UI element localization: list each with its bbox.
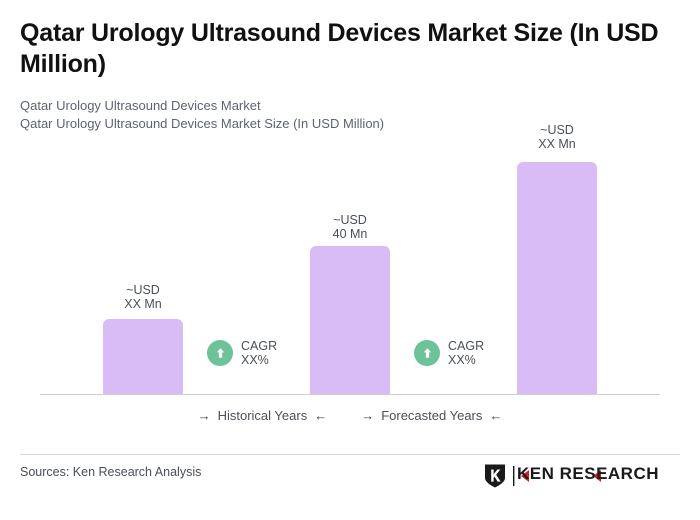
bar-value-amount-1: XX Mn <box>88 297 198 311</box>
arrow-right-icon: → <box>361 408 374 423</box>
legend-item-forecasted: → Forecasted Years ← <box>361 408 502 423</box>
bar-value-unit-3: ~USD <box>502 123 612 137</box>
bar-value-label-3: ~USD XX Mn <box>502 123 612 151</box>
x-axis-line <box>40 394 660 395</box>
page-title: Qatar Urology Ultrasound Devices Market … <box>20 18 660 80</box>
bar-value-unit-2: ~USD <box>295 213 405 227</box>
brand-name: KEN RESEARCH <box>517 465 659 482</box>
bar-value-amount-2: 40 Mn <box>295 227 405 241</box>
bar-value-label-1: ~USD XX Mn <box>88 283 198 311</box>
arrow-up-icon <box>414 340 440 366</box>
bar-base-year[interactable] <box>310 246 390 394</box>
cagr-label-1: CAGR <box>241 339 277 353</box>
legend-label-historical: Historical Years <box>218 408 308 423</box>
bar-value-label-2: ~USD 40 Mn <box>295 213 405 241</box>
arrow-left-icon: ← <box>314 408 327 423</box>
period-legend: → Historical Years ← → Forecasted Years … <box>0 408 700 423</box>
arrow-right-icon: → <box>198 408 211 423</box>
legend-item-historical: → Historical Years ← <box>198 408 328 423</box>
chart-plot-area: ~USD XX Mn ~USD 40 Mn ~USD XX Mn CAGR XX… <box>0 110 700 395</box>
cagr-annotation-2: CAGR XX% <box>414 339 484 367</box>
footer-divider <box>20 454 680 455</box>
arrow-up-icon <box>207 340 233 366</box>
cagr-text-1: CAGR XX% <box>241 339 277 367</box>
cagr-annotation-1: CAGR XX% <box>207 339 277 367</box>
arrow-left-icon: ← <box>489 408 502 423</box>
bar-historical[interactable] <box>103 319 183 394</box>
bar-value-amount-3: XX Mn <box>502 137 612 151</box>
legend-label-forecasted: Forecasted Years <box>381 408 482 423</box>
ken-research-shield-icon <box>483 463 507 489</box>
cagr-text-2: CAGR XX% <box>448 339 484 367</box>
cagr-value-2: XX% <box>448 353 484 367</box>
brand-logo: KEN RESEARCH <box>483 463 671 489</box>
bar-value-unit-1: ~USD <box>88 283 198 297</box>
cagr-label-2: CAGR <box>448 339 484 353</box>
cagr-value-1: XX% <box>241 353 277 367</box>
bar-forecast[interactable] <box>517 162 597 394</box>
sources-text: Sources: Ken Research Analysis <box>20 465 201 479</box>
